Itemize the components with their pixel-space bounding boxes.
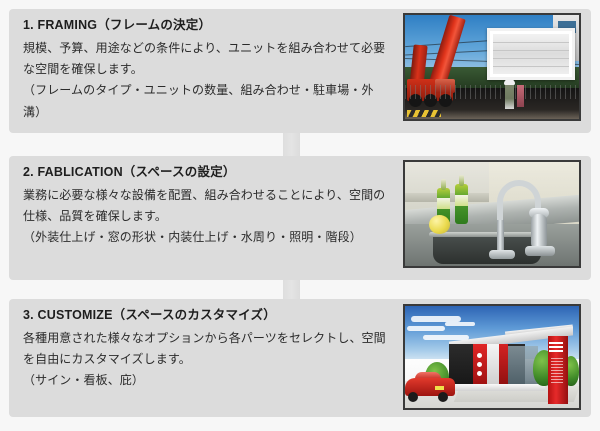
process-flow-diagram: 1. FRAMING（フレームの決定） 規模、予算、用途などの条件により、ユニッ… xyxy=(0,0,600,431)
step-body-line: 溝） xyxy=(23,102,403,123)
step-panel-fablication: 2. FABLICATION（スペースの設定） 業務に必要な様々な設備を配置、組… xyxy=(9,156,591,280)
step-heading-framing: 1. FRAMING（フレームの決定） xyxy=(23,18,403,34)
step-body-line: 仕様、品質を確保します。 xyxy=(23,206,403,227)
kitchen-sink-faucet-photo xyxy=(403,160,581,268)
step-panel-framing: 1. FRAMING（フレームの決定） 規模、予算、用途などの条件により、ユニッ… xyxy=(9,9,591,133)
step-body-line: （外装仕上げ・窓の形状・内装仕上げ・水周り・照明・階段） xyxy=(23,227,403,248)
step-body-line: 業務に必要な様々な設備を配置、組み合わせることにより、空間の xyxy=(23,185,403,206)
step-text-fablication: 2. FABLICATION（スペースの設定） 業務に必要な様々な設備を配置、組… xyxy=(23,165,403,249)
step-body-line: 規模、予算、用途などの条件により、ユニットを組み合わせて必要 xyxy=(23,38,403,59)
building-rendering-photo xyxy=(403,304,581,410)
step-body-line: （サイン・看板、庇） xyxy=(23,370,403,391)
step-heading-fablication: 2. FABLICATION（スペースの設定） xyxy=(23,165,403,181)
step-text-customize: 3. CUSTOMIZE（スペースのカスタマイズ） 各種用意された様々なオプショ… xyxy=(23,308,403,392)
crane-lifting-unit-photo xyxy=(403,13,581,121)
step-body-line: を自由にカスタマイズします。 xyxy=(23,349,403,370)
step-heading-customize: 3. CUSTOMIZE（スペースのカスタマイズ） xyxy=(23,308,403,324)
step-body-line: 各種用意された様々なオプションから各パーツをセレクトし、空間 xyxy=(23,328,403,349)
step-panel-customize: 3. CUSTOMIZE（スペースのカスタマイズ） 各種用意された様々なオプショ… xyxy=(9,299,591,417)
step-text-framing: 1. FRAMING（フレームの決定） 規模、予算、用途などの条件により、ユニッ… xyxy=(23,18,403,123)
step-body-line: （フレームのタイプ・ユニットの数量、組み合わせ・駐車場・外 xyxy=(23,80,403,101)
step-body-line: な空間を確保します。 xyxy=(23,59,403,80)
